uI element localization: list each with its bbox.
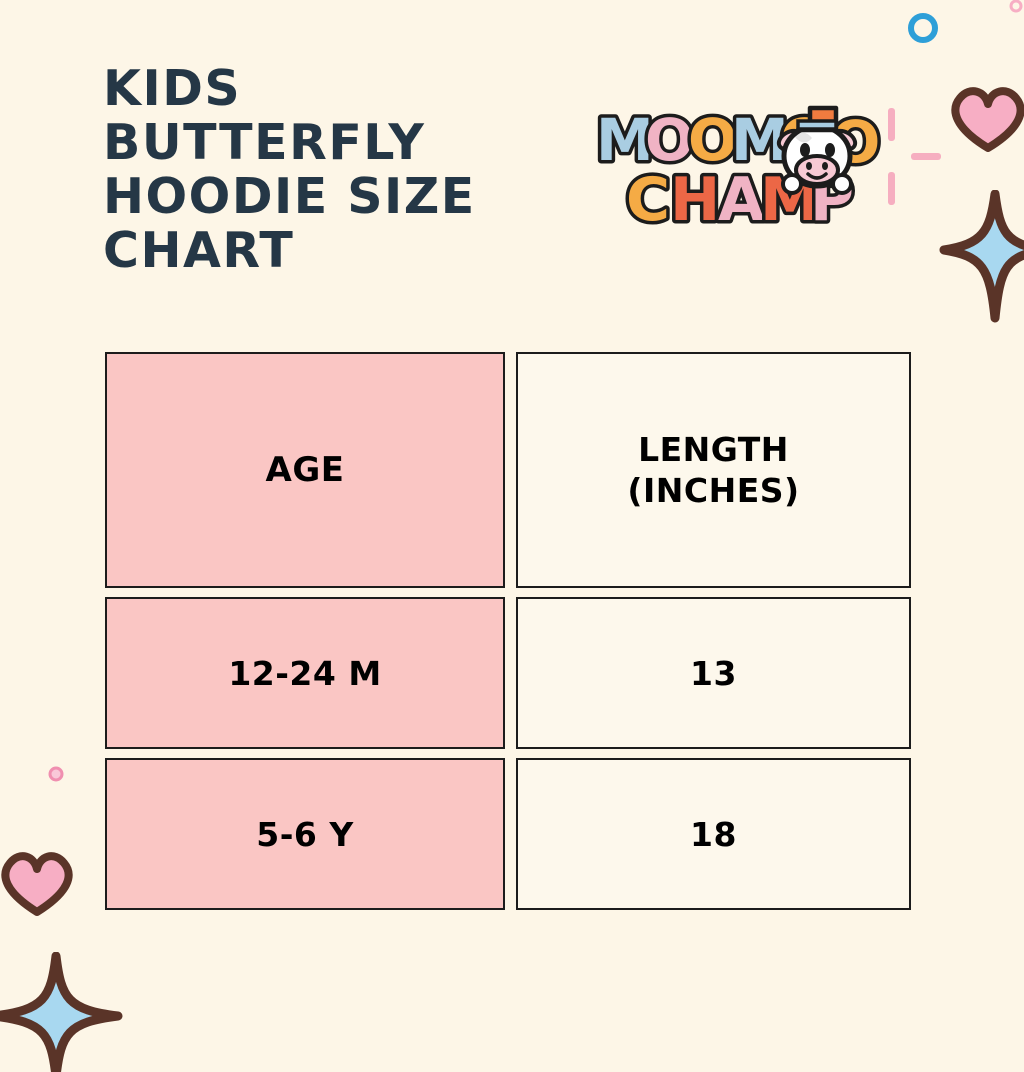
size-chart-table: AGE LENGTH (INCHES) 12-24 M 13 5-6 Y 18: [105, 352, 915, 910]
dot-pink-top-right-icon: [1008, 0, 1024, 16]
svg-text:C: C: [626, 165, 670, 232]
dash-pink-vertical-bottom: [888, 172, 895, 205]
cell-age-1: 12-24 M: [105, 597, 505, 749]
svg-text:A: A: [718, 165, 765, 232]
heart-pink-bottom-left-icon: [0, 846, 76, 918]
svg-text:O: O: [645, 106, 694, 174]
sparkle-blue-right-icon: [938, 190, 1024, 325]
table-row: 5-6 Y 18: [105, 758, 915, 910]
column-header-length: LENGTH (INCHES): [516, 352, 911, 588]
cell-length-2: 18: [516, 758, 911, 910]
circle-outline-blue-icon: [905, 10, 941, 46]
column-header-age: AGE: [105, 352, 505, 588]
sparkle-blue-bottom-left-icon: [0, 952, 126, 1072]
heart-pink-top-right-icon: [947, 80, 1024, 152]
moomoo-champ-logo-graphic: M O O M O O C H A M P: [592, 104, 884, 232]
table-header-row: AGE LENGTH (INCHES): [105, 352, 915, 588]
page-title: KIDS BUTTERFLY HOODIE SIZE CHART: [103, 62, 573, 278]
dash-pink-horizontal: [911, 153, 941, 160]
cell-length-1: 13: [516, 597, 911, 749]
cell-age-2: 5-6 Y: [105, 758, 505, 910]
size-chart-canvas: KIDS BUTTERFLY HOODIE SIZE CHART M O O M…: [0, 0, 1024, 1024]
svg-text:O: O: [688, 106, 737, 174]
dash-pink-vertical-top: [888, 108, 895, 141]
table-row: 12-24 M 13: [105, 597, 915, 749]
brand-logo: M O O M O O C H A M P: [592, 104, 884, 232]
svg-text:H: H: [670, 165, 720, 232]
dot-pink-bottom-left-icon: [46, 764, 66, 784]
